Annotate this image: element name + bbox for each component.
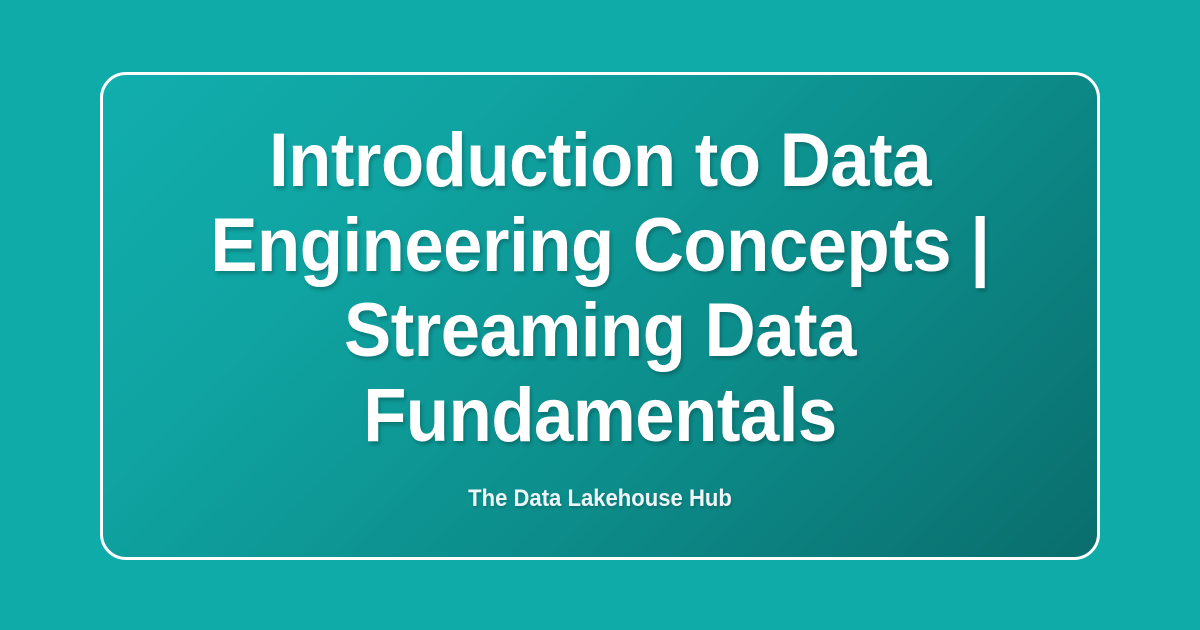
og-card-root: Introduction to Data Engineering Concept…	[0, 0, 1200, 630]
bordered-content-panel: Introduction to Data Engineering Concept…	[100, 72, 1100, 560]
site-name-subtitle: The Data Lakehouse Hub	[174, 458, 1026, 514]
page-title: Introduction to Data Engineering Concept…	[169, 118, 1030, 458]
panel-content: Introduction to Data Engineering Concept…	[103, 118, 1097, 514]
